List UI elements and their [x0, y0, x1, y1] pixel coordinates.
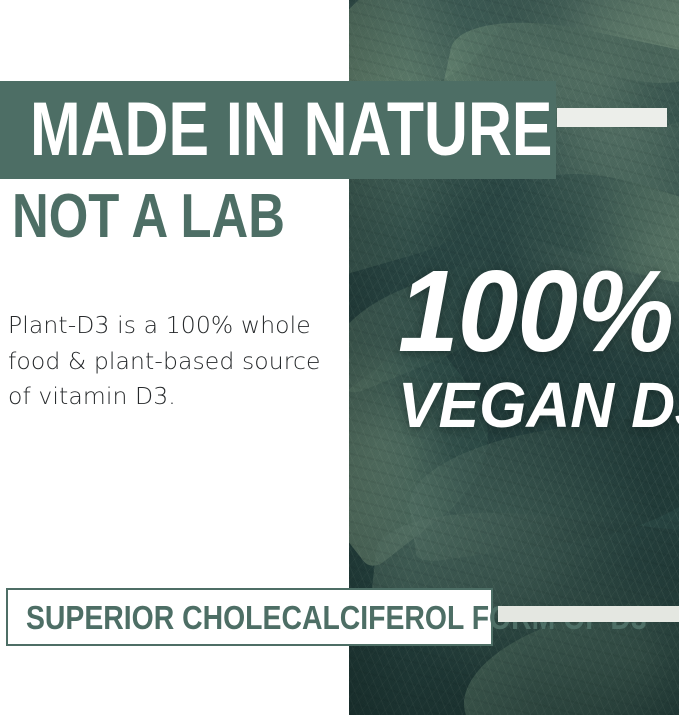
headline-line-2: NOT A LAB	[12, 186, 285, 248]
white-panel-bottom-left	[0, 646, 349, 715]
body-paragraph: Plant-D3 is a 100% whole food & plant-ba…	[8, 308, 328, 415]
claim-subtitle: VEGAN D3	[398, 373, 665, 437]
marketing-graphic: MADE IN NATURE NOT A LAB Plant-D3 is a 1…	[0, 0, 679, 715]
headline-band: MADE IN NATURE	[0, 81, 556, 179]
decorative-dash-bottom	[498, 606, 679, 622]
claim-percentage: 100%	[398, 258, 662, 365]
white-panel-top-left	[0, 0, 349, 81]
decorative-dash-top	[557, 108, 667, 127]
bottom-banner: SUPERIOR CHOLECALCIFEROL FORM OF D3	[6, 588, 493, 646]
vegan-claim-block: 100% VEGAN D3	[398, 258, 679, 437]
headline-line-1: MADE IN NATURE	[30, 92, 552, 168]
